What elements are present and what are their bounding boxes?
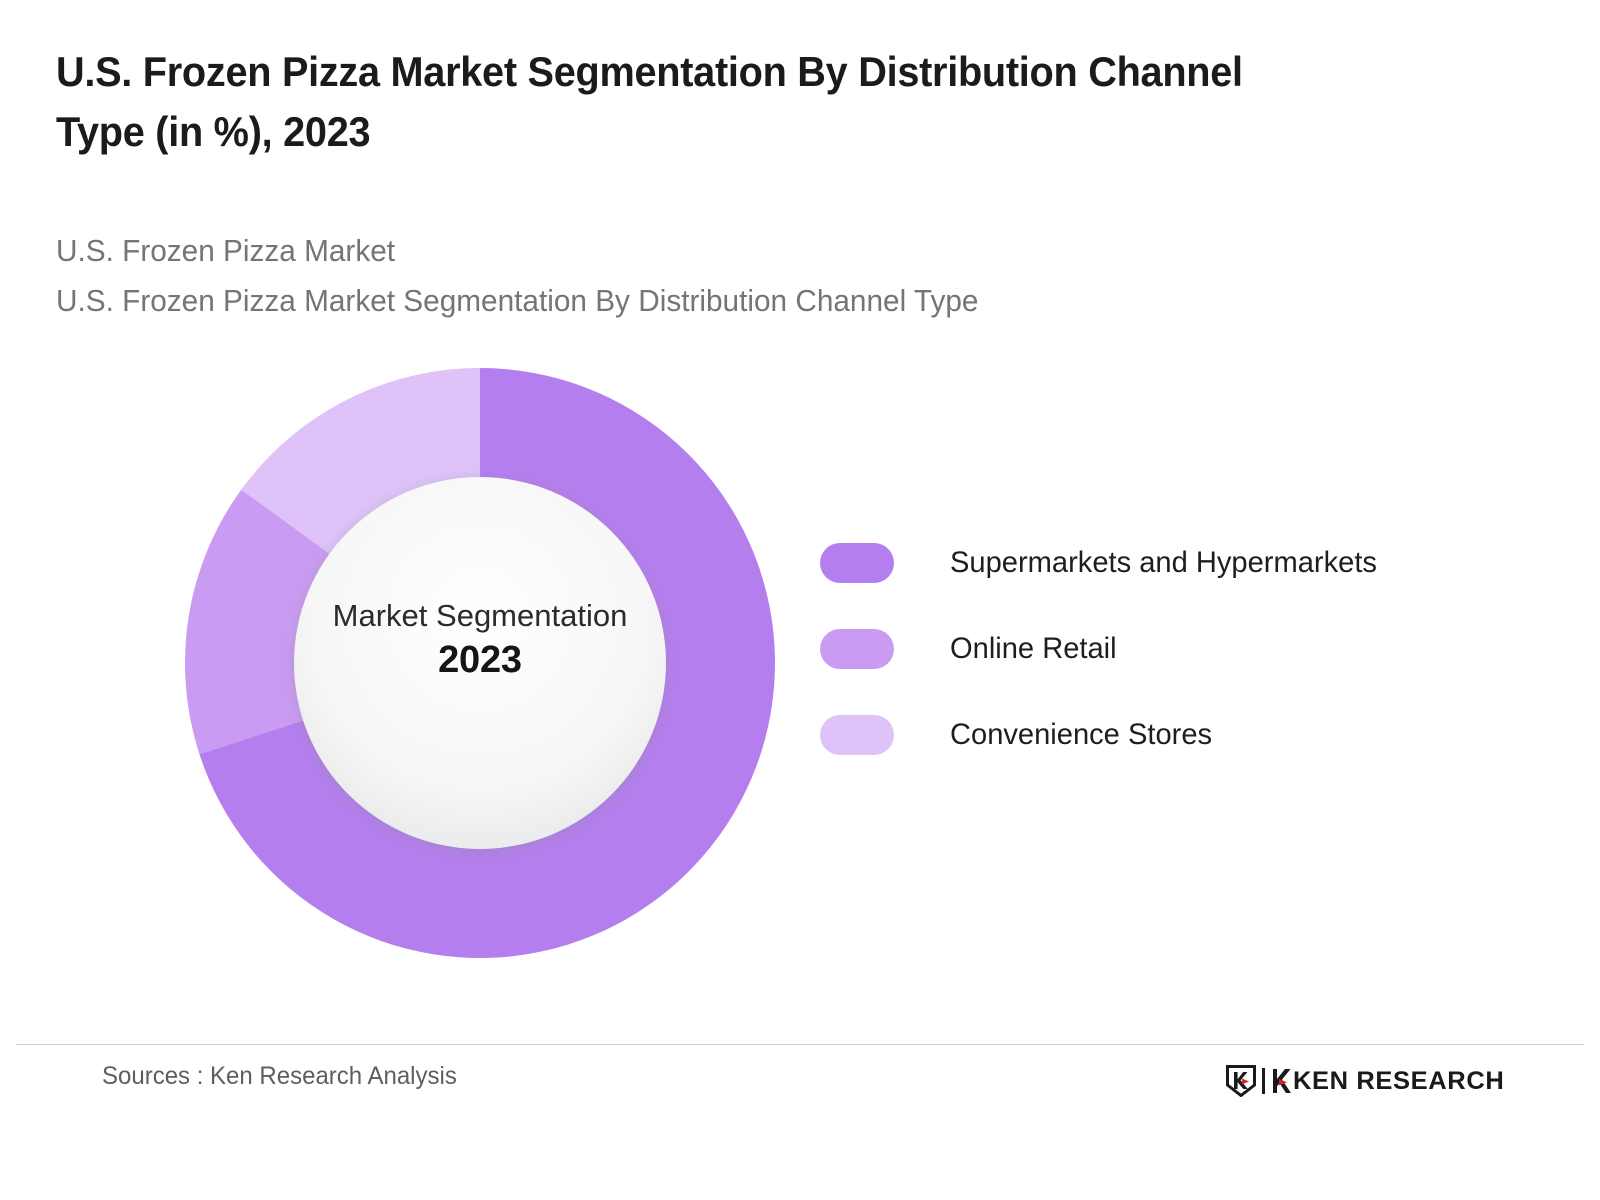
logo-k-icon: [1272, 1068, 1293, 1094]
footer-divider: [16, 1044, 1584, 1045]
logo-wordmark: KEN RESEARCH: [1272, 1068, 1500, 1094]
donut-chart: Market Segmentation 2023: [185, 368, 775, 958]
logo-text: KEN RESEARCH: [1293, 1069, 1504, 1094]
legend-swatch-icon: [820, 543, 894, 583]
subtitle-line-1: U.S. Frozen Pizza Market: [56, 226, 1304, 276]
legend-label: Convenience Stores: [950, 718, 1212, 752]
legend-label: Supermarkets and Hypermarkets: [950, 546, 1377, 580]
legend-item[interactable]: Online Retail: [820, 606, 1500, 692]
legend-label: Online Retail: [950, 632, 1117, 666]
donut-hole: [294, 477, 666, 849]
subtitle-block: U.S. Frozen Pizza Market U.S. Frozen Piz…: [56, 226, 1356, 326]
chart-page: U.S. Frozen Pizza Market Segmentation By…: [0, 0, 1600, 1200]
donut-svg: [185, 368, 775, 958]
legend-swatch-icon: [820, 715, 894, 755]
subtitle-line-2: U.S. Frozen Pizza Market Segmentation By…: [56, 276, 1304, 326]
chart-legend: Supermarkets and HypermarketsOnline Reta…: [820, 520, 1500, 778]
source-text: Sources : Ken Research Analysis: [102, 1062, 457, 1091]
ken-research-logo: KEN RESEARCH: [1226, 1064, 1500, 1098]
legend-item[interactable]: Convenience Stores: [820, 692, 1500, 778]
ken-research-shield-icon: [1226, 1065, 1256, 1097]
legend-item[interactable]: Supermarkets and Hypermarkets: [820, 520, 1500, 606]
page-title: U.S. Frozen Pizza Market Segmentation By…: [56, 42, 1322, 161]
legend-swatch-icon: [820, 629, 894, 669]
chart-area: Market Segmentation 2023 Supermarkets an…: [0, 330, 1600, 1020]
logo-separator: [1262, 1068, 1265, 1094]
